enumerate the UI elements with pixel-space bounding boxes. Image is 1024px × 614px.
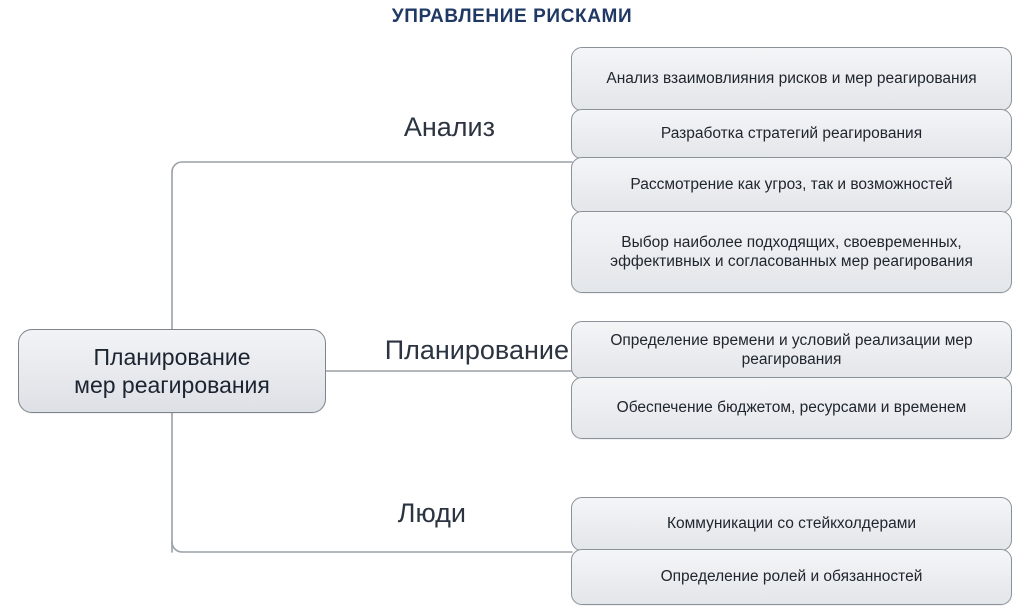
leaf-node-analysis-4-label: Выбор наиболее подходящих, своевременных… <box>584 233 999 271</box>
root-node-label: Планирование мер реагирования <box>31 343 313 399</box>
branch-label-people[interactable]: Люди <box>398 498 466 529</box>
leaf-node-analysis-3[interactable]: Рассмотрение как угроз, так и возможност… <box>571 157 1012 213</box>
leaf-node-people-1[interactable]: Коммуникации со стейкхолдерами <box>571 497 1012 551</box>
root-node-line-1: Планирование <box>31 343 313 371</box>
branch-label-analysis[interactable]: Анализ <box>404 112 495 143</box>
leaf-node-analysis-4[interactable]: Выбор наиболее подходящих, своевременных… <box>571 211 1012 293</box>
leaf-node-people-2[interactable]: Определение ролей и обязанностей <box>571 549 1012 605</box>
leaf-node-analysis-1[interactable]: Анализ взаимовлияния рисков и мер реагир… <box>571 47 1012 111</box>
branch-line-analysis <box>172 162 572 172</box>
leaf-node-people-2-label: Определение ролей и обязанностей <box>584 567 999 586</box>
leaf-node-people-1-label: Коммуникации со стейкхолдерами <box>584 514 999 533</box>
leaf-node-analysis-2[interactable]: Разработка стратегий реагирования <box>571 109 1012 159</box>
leaf-node-analysis-3-label: Рассмотрение как угроз, так и возможност… <box>584 175 999 194</box>
leaf-node-analysis-2-label: Разработка стратегий реагирования <box>584 124 999 143</box>
leaf-node-planning-2[interactable]: Обеспечение бюджетом, ресурсами и времен… <box>571 377 1012 439</box>
branch-line-people <box>172 542 572 552</box>
root-node[interactable]: Планирование мер реагирования <box>18 329 326 413</box>
leaf-node-analysis-1-label: Анализ взаимовлияния рисков и мер реагир… <box>584 69 999 88</box>
leaf-node-planning-1[interactable]: Определение времени и условий реализации… <box>571 321 1012 379</box>
leaf-node-planning-1-label: Определение времени и условий реализации… <box>584 331 999 369</box>
leaf-node-planning-2-label: Обеспечение бюджетом, ресурсами и времен… <box>584 398 999 417</box>
root-node-line-2: мер реагирования <box>31 371 313 399</box>
diagram-canvas: УПРАВЛЕНИЕ РИСКАМИ Планирование мер реаг… <box>0 0 1024 614</box>
branch-label-planning[interactable]: Планирование <box>385 335 569 366</box>
